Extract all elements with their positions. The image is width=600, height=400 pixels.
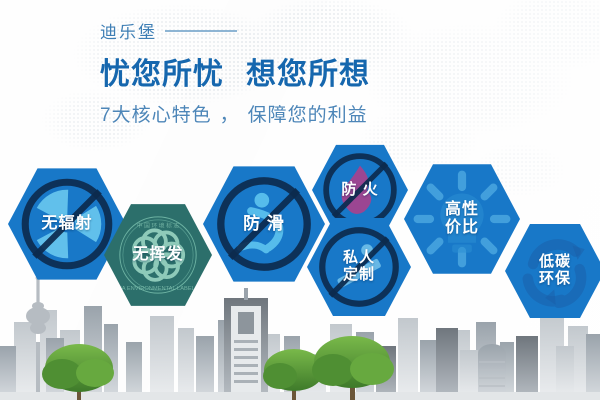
headline-right: 想您所想 [246, 58, 370, 91]
feature-label-anti-slip: 防 滑 [243, 214, 285, 233]
feature-label-line: 私人 [343, 250, 375, 267]
svg-text:中 国 环 境 标 志: 中 国 环 境 标 志 [137, 222, 180, 230]
feature-label-cost-effective: 高性价比 [445, 201, 479, 237]
brand-name: 迪乐堡 [100, 18, 157, 43]
feature-label-line: 防 火 [341, 182, 378, 199]
feature-label-line: 价比 [445, 219, 479, 237]
brand-divider-rule [165, 30, 237, 32]
feature-label-no-radiation: 无辐射 [41, 215, 92, 233]
headline-block: 迪乐堡 忧您所忧想您所想 7大核心特色，保障您的利益 [100, 18, 370, 127]
feature-label-line: 无辐射 [41, 215, 92, 233]
main-headline: 忧您所忧想您所想 [100, 49, 370, 93]
feature-label-line: 无挥发 [132, 246, 183, 264]
round-tower [478, 344, 506, 400]
feature-label-custom-made: 私人定制 [343, 250, 375, 284]
feature-label-line: 高性 [445, 201, 479, 219]
headline-left: 忧您所忧 [100, 58, 224, 91]
sub-headline: 7大核心特色，保障您的利益 [100, 100, 370, 127]
subhead-right: 保障您的利益 [248, 105, 368, 126]
feature-label-line: 定制 [343, 267, 375, 284]
subhead-comma: ， [212, 100, 248, 127]
feature-label-no-volatile: 无挥发 [132, 246, 183, 264]
brand-row: 迪乐堡 [100, 18, 370, 43]
feature-label-line: 低碳 [539, 254, 571, 271]
central-tower [224, 288, 268, 400]
subhead-left: 7大核心特色 [100, 105, 212, 126]
feature-label-low-carbon: 低碳环保 [539, 254, 571, 288]
feature-label-fire-proof: 防 火 [341, 182, 378, 199]
promo-banner: 迪乐堡 忧您所忧想您所想 7大核心特色，保障您的利益 无辐射 [0, 0, 600, 400]
feature-label-line: 防 滑 [243, 214, 285, 233]
feature-label-line: 环保 [539, 271, 571, 288]
